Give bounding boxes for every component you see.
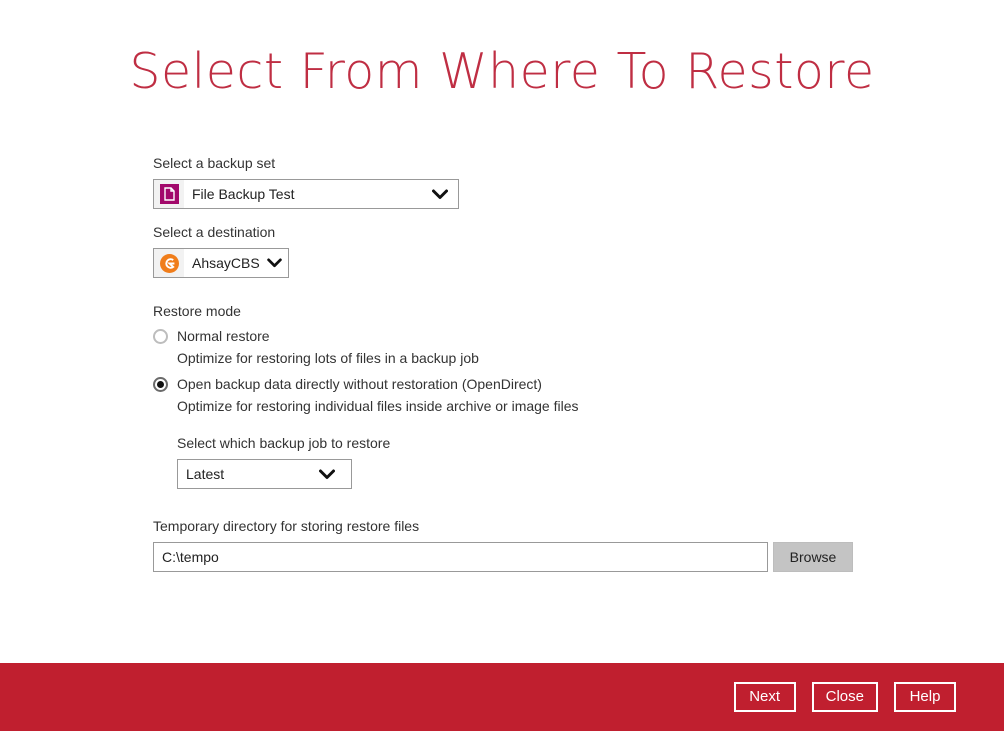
radio-opendirect-hint: Optimize for restoring individual files … bbox=[177, 398, 953, 414]
backup-set-icon-wrap bbox=[154, 180, 184, 208]
chevron-down-icon bbox=[428, 189, 458, 200]
backup-job-field: Select which backup job to restore Lates… bbox=[177, 434, 953, 489]
radio-button-icon[interactable] bbox=[153, 329, 168, 344]
radio-normal-restore-hint: Optimize for restoring lots of files in … bbox=[177, 350, 953, 366]
destination-field: Select a destination AhsayCBS bbox=[153, 223, 953, 278]
radio-normal-restore-label: Normal restore bbox=[177, 328, 270, 344]
backup-job-dropdown[interactable]: Latest bbox=[177, 459, 352, 489]
chevron-down-icon bbox=[266, 258, 292, 268]
backup-set-label: Select a backup set bbox=[153, 154, 953, 173]
restore-mode-label: Restore mode bbox=[153, 302, 953, 321]
destination-label: Select a destination bbox=[153, 223, 953, 242]
destination-value: AhsayCBS bbox=[184, 255, 266, 271]
radio-opendirect[interactable]: Open backup data directly without restor… bbox=[153, 376, 953, 392]
backup-job-label: Select which backup job to restore bbox=[177, 434, 953, 453]
backup-job-value: Latest bbox=[186, 466, 315, 482]
backup-set-field: Select a backup set File Backup Test bbox=[153, 154, 953, 209]
backup-set-value: File Backup Test bbox=[184, 186, 428, 202]
footer-bar: Next Close Help bbox=[0, 663, 1004, 731]
chevron-down-icon bbox=[315, 469, 351, 480]
destination-icon-wrap bbox=[154, 249, 184, 277]
radio-normal-restore[interactable]: Normal restore bbox=[153, 328, 953, 344]
temp-dir-input[interactable] bbox=[153, 542, 768, 572]
close-button[interactable]: Close bbox=[812, 682, 878, 712]
radio-button-selected-icon[interactable] bbox=[153, 377, 168, 392]
help-button[interactable]: Help bbox=[894, 682, 956, 712]
destination-dropdown[interactable]: AhsayCBS bbox=[153, 248, 289, 278]
document-icon bbox=[160, 184, 179, 204]
restore-mode-group: Restore mode Normal restore Optimize for… bbox=[153, 302, 953, 489]
ahsaycbs-logo-icon bbox=[160, 254, 179, 273]
temp-dir-label: Temporary directory for storing restore … bbox=[153, 517, 953, 536]
browse-button[interactable]: Browse bbox=[773, 542, 853, 572]
backup-set-dropdown[interactable]: File Backup Test bbox=[153, 179, 459, 209]
next-button[interactable]: Next bbox=[734, 682, 796, 712]
restore-form: Select a backup set File Backup Test Sel… bbox=[153, 154, 953, 572]
temp-dir-field: Temporary directory for storing restore … bbox=[153, 517, 953, 572]
temp-dir-row: Browse bbox=[153, 542, 953, 572]
radio-opendirect-label: Open backup data directly without restor… bbox=[177, 376, 542, 392]
page-title: Select From Where To Restore bbox=[0, 40, 1004, 104]
